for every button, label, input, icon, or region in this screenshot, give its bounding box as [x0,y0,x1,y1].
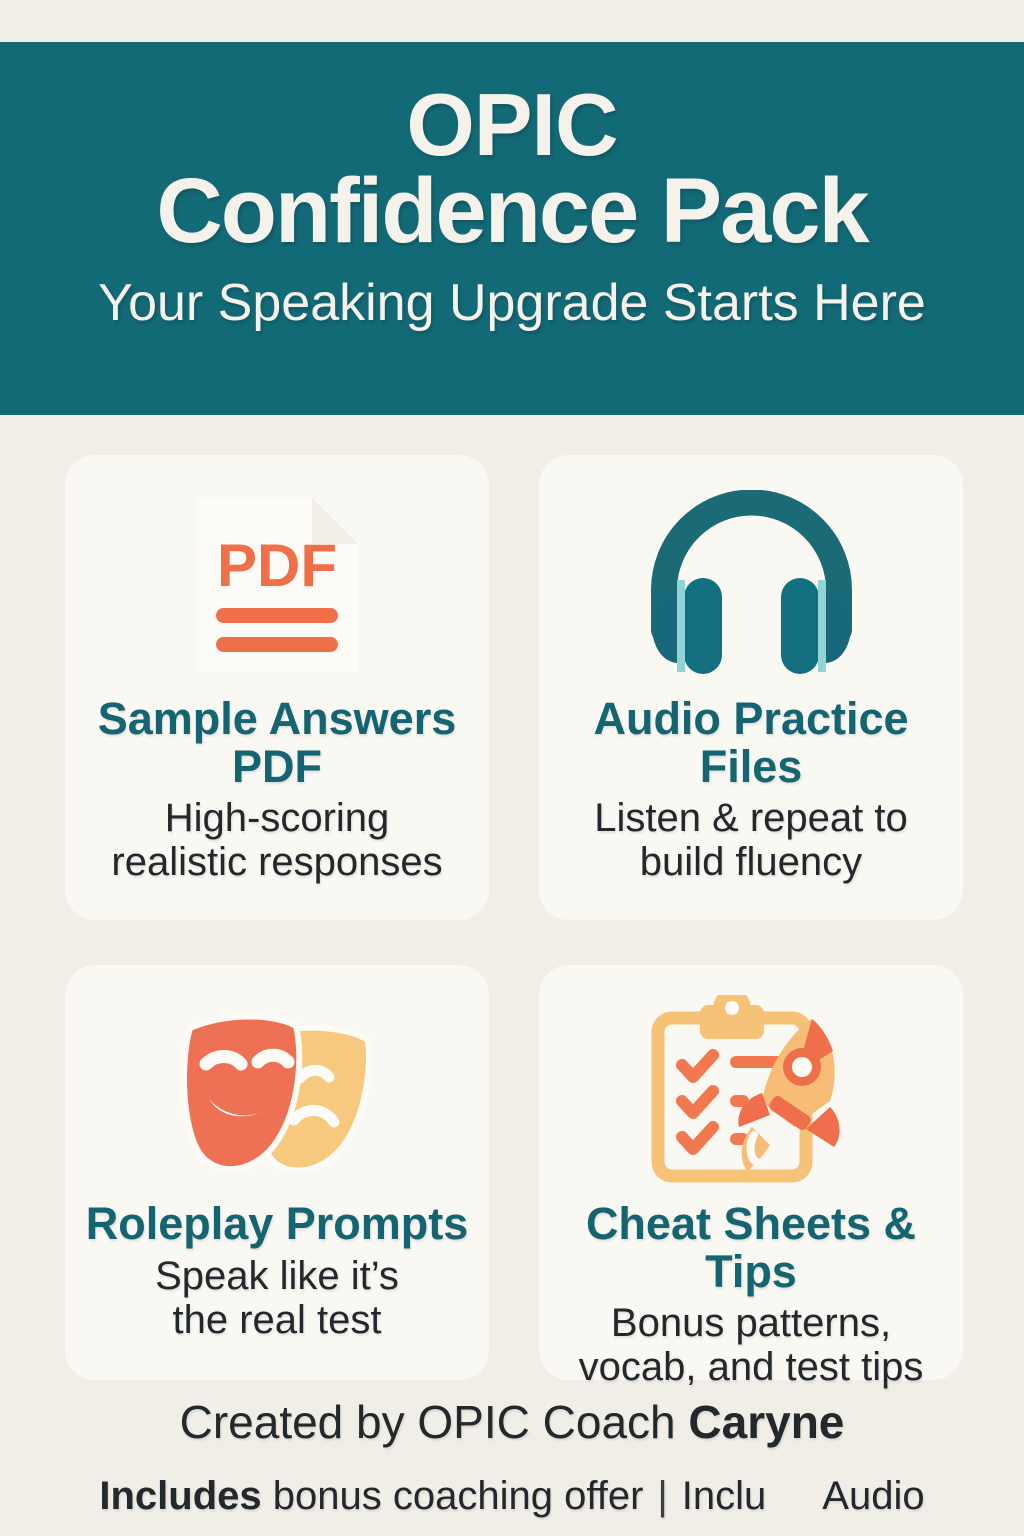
page-title: OPIC Confidence Pack [156,82,867,257]
card-description: Bonus patterns, vocab, and test tips [579,1301,924,1389]
footer-credit-prefix: Created by OPIC Coach [180,1396,689,1448]
footer-separator: | [657,1474,667,1518]
feature-card-roleplay-prompts[interactable]: Roleplay Prompts Speak like it’s the rea… [65,965,489,1380]
feature-card-grid: PDF Sample Answers PDF High-scoring real… [65,455,963,1380]
footer-badge-truncated: Inclu [682,1474,767,1518]
footer-credit: Created by OPIC Coach Caryne [0,1395,1024,1450]
feature-card-cheat-sheets-tips[interactable]: Cheat Sheets & Tips Bonus patterns, voca… [539,965,963,1380]
card-description: Speak like it’s the real test [155,1254,399,1342]
header-banner: OPIC Confidence Pack Your Speaking Upgra… [0,42,1024,415]
card-description: High-scoring realistic responses [111,796,442,884]
feature-card-audio-practice-files[interactable]: Audio Practice Files Listen & repeat to … [539,455,963,920]
card-description: Listen & repeat to build fluency [594,796,908,884]
pdf-document-icon: PDF [182,485,372,685]
footer-badges: Includes bonus coaching offer|IncluAudio [0,1472,1024,1520]
title-line-1: OPIC [406,75,617,174]
footer-badge-includes: Includes [99,1474,261,1518]
card-title: Sample Answers PDF [65,695,489,790]
footer: Created by OPIC Coach Caryne Includes bo… [0,1395,1024,1520]
footer-credit-name: Caryne [688,1396,844,1448]
footer-badge-offer: bonus coaching offer [262,1474,644,1518]
card-title: Cheat Sheets & Tips [539,1200,963,1295]
footer-badge-audio: Audio [822,1474,924,1518]
theater-masks-icon [172,995,382,1190]
svg-text:PDF: PDF [217,532,337,599]
card-title: Roleplay Prompts [86,1200,469,1248]
clipboard-rocket-icon [644,995,859,1190]
card-title: Audio Practice Files [539,695,963,790]
feature-card-sample-answers-pdf[interactable]: PDF Sample Answers PDF High-scoring real… [65,455,489,920]
headphones-icon [644,485,859,685]
page-subtitle: Your Speaking Upgrade Starts Here [98,273,926,333]
title-line-2: Confidence Pack [156,167,867,256]
